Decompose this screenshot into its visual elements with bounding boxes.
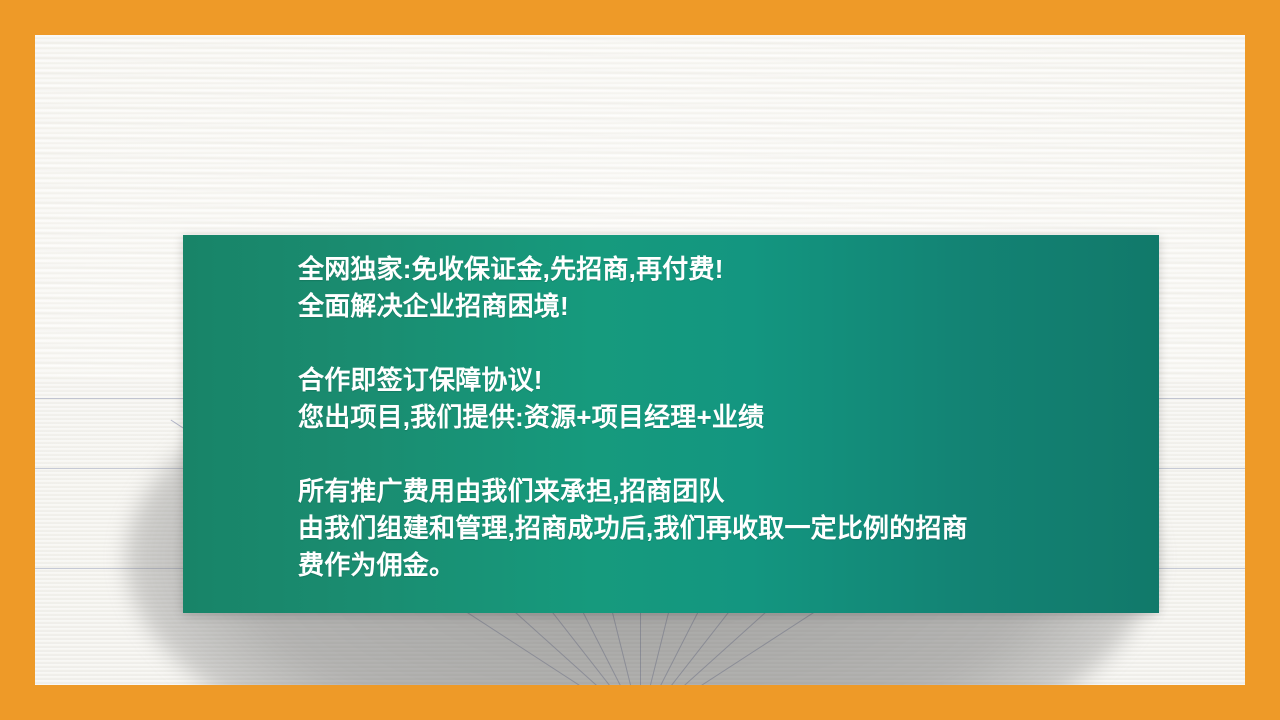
promo-line: 全网独家:免收保证金,先招商,再付费! bbox=[298, 251, 1139, 288]
promo-panel-text: 全网独家:免收保证金,先招商,再付费! 全面解决企业招商困境! 合作即签订保障协… bbox=[298, 251, 1139, 584]
room-scene: 全网独家:免收保证金,先招商,再付费! 全面解决企业招商困境! 合作即签订保障协… bbox=[35, 35, 1245, 685]
promo-line: 合作即签订保障协议! bbox=[298, 362, 1139, 399]
promo-line: 全面解决企业招商困境! bbox=[298, 288, 1139, 325]
paragraph-spacer bbox=[298, 325, 1139, 362]
promo-line: 您出项目,我们提供:资源+项目经理+业绩 bbox=[298, 399, 1139, 436]
promo-line: 由我们组建和管理,招商成功后,我们再收取一定比例的招商 bbox=[298, 510, 1139, 547]
paragraph-spacer bbox=[298, 436, 1139, 473]
promo-line: 所有推广费用由我们来承担,招商团队 bbox=[298, 473, 1139, 510]
promo-line: 费作为佣金。 bbox=[298, 547, 1139, 584]
slide-root: 全网独家:免收保证金,先招商,再付费! 全面解决企业招商困境! 合作即签订保障协… bbox=[0, 0, 1280, 720]
promo-panel: 全网独家:免收保证金,先招商,再付费! 全面解决企业招商困境! 合作即签订保障协… bbox=[183, 235, 1159, 613]
